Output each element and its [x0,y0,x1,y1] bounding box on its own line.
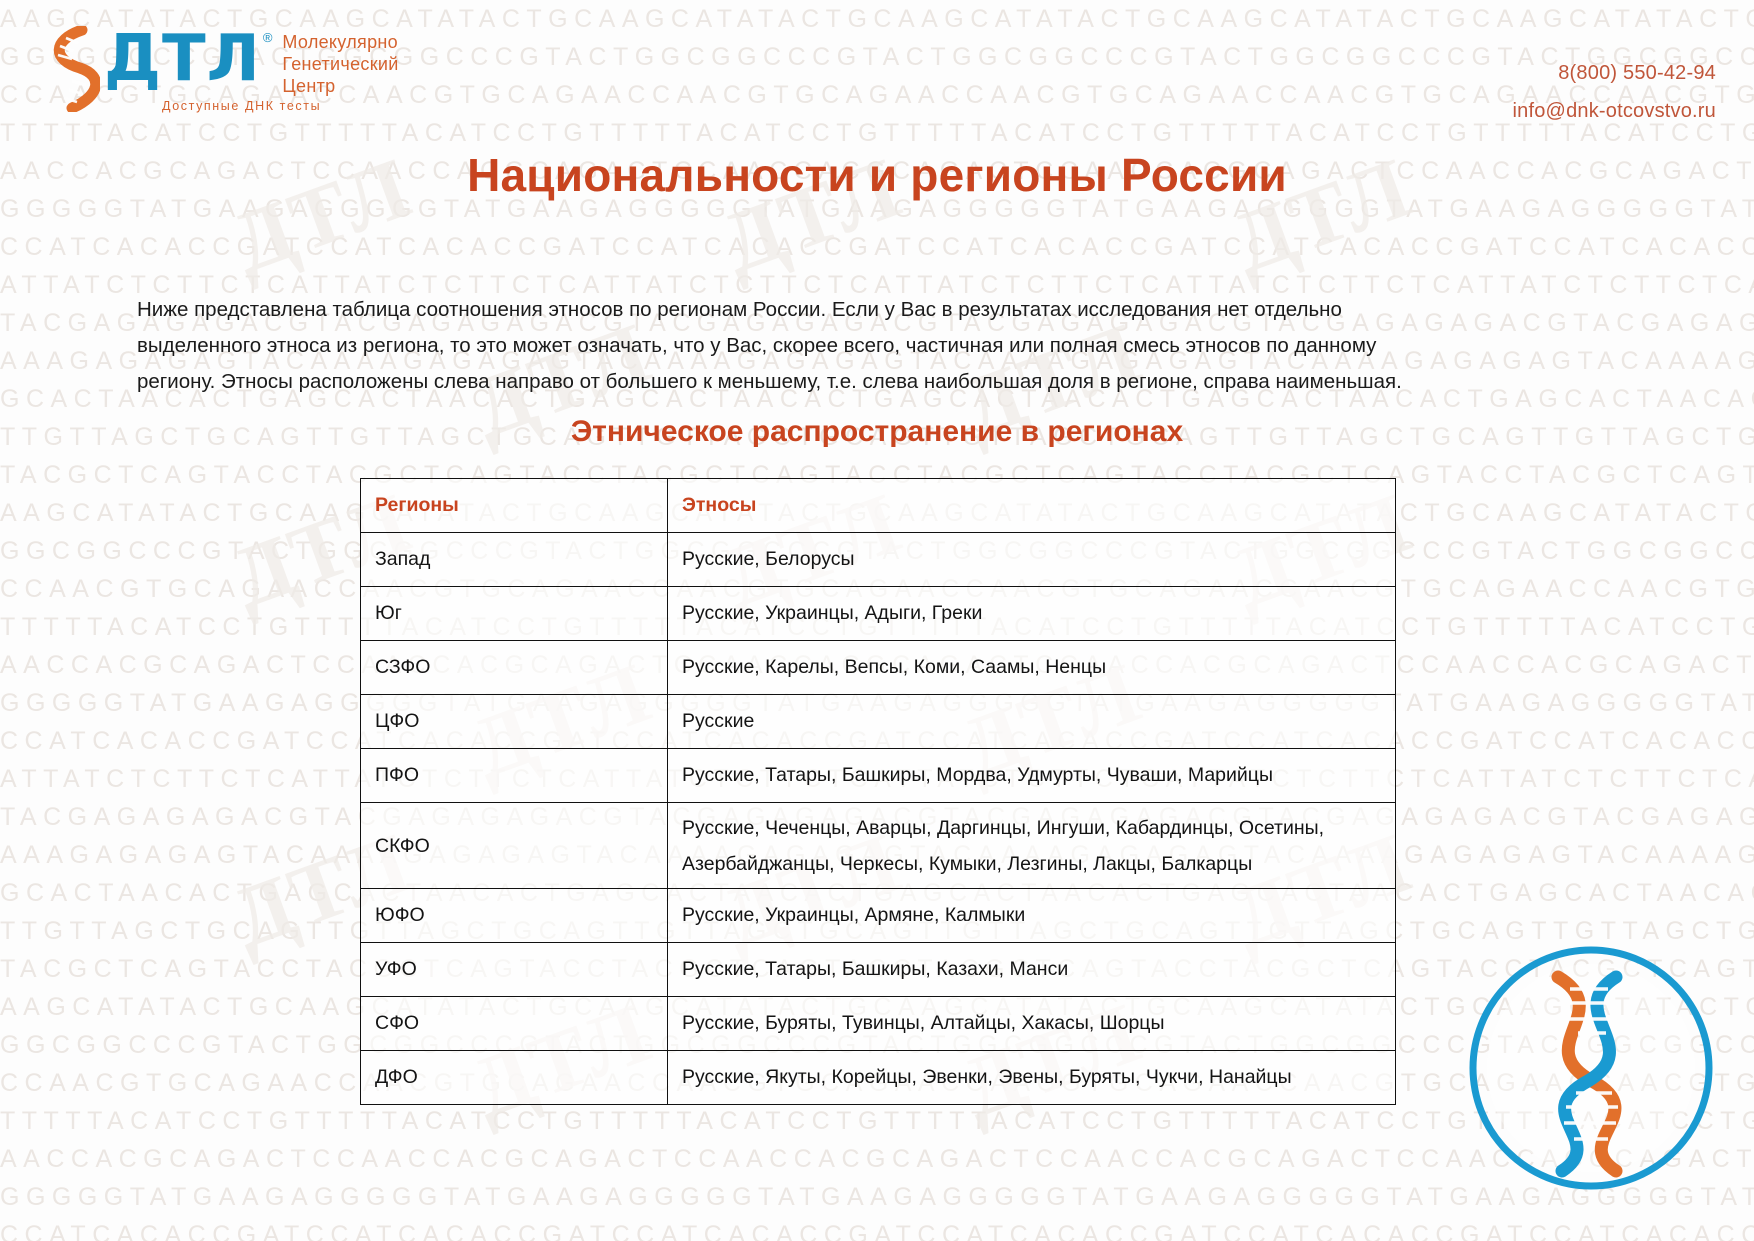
registered-mark: ® [263,30,273,45]
column-header-ethnos: Этносы [668,479,1396,533]
cell-ethnos: Русские [668,695,1396,749]
dna-sequence-row: CCATCACACCGATCCATCACACCGATCCATCACACCGATC… [0,1216,1754,1241]
brand-descriptor: Молекулярно Генетический Центр [282,31,398,97]
brand-name: ДТЛ [104,26,261,92]
dna-circle-badge-icon [1466,943,1716,1193]
column-header-regions: Регионы [361,479,668,533]
brand-tagline: Доступные ДНК тесты [162,99,399,113]
contact-info: 8(800) 550-42-94 info@dnk-otcovstvo.ru [1513,54,1716,130]
cell-ethnos: Русские, Якуты, Корейцы, Эвенки, Эвены, … [668,1051,1396,1105]
table-row: ЮФОРусские, Украинцы, Армяне, Калмыки [361,889,1396,943]
table-row: СЗФОРусские, Карелы, Вепсы, Коми, Саамы,… [361,641,1396,695]
cell-ethnos: Русские, Чеченцы, Аварцы, Даргинцы, Ингу… [668,803,1396,889]
table-body: ЗападРусские, БелорусыЮгРусские, Украинц… [361,533,1396,1105]
email-address[interactable]: info@dnk-otcovstvo.ru [1513,92,1716,130]
cell-ethnos: Русские, Украинцы, Адыги, Греки [668,587,1396,641]
table-row: ПФОРусские, Татары, Башкиры, Мордва, Удм… [361,749,1396,803]
table-row: СФОРусские, Буряты, Тувинцы, Алтайцы, Ха… [361,997,1396,1051]
cell-region: СКФО [361,803,668,889]
brand-descriptor-line-2: Генетический [282,53,398,75]
table-row: ЮгРусские, Украинцы, Адыги, Греки [361,587,1396,641]
cell-region: ПФО [361,749,668,803]
intro-paragraph: Ниже представлена таблица соотношения эт… [137,292,1437,400]
cell-ethnos: Русские, Буряты, Тувинцы, Алтайцы, Хакас… [668,997,1396,1051]
phone-number[interactable]: 8(800) 550-42-94 [1513,54,1716,92]
table-row: ЦФОРусские [361,695,1396,749]
cell-region: СФО [361,997,668,1051]
cell-region: ЮФО [361,889,668,943]
cell-ethnos: Русские, Украинцы, Армяне, Калмыки [668,889,1396,943]
cell-region: Запад [361,533,668,587]
section-title: Этническое распространение в регионах [0,415,1754,449]
ethnic-table-wrapper: Регионы Этносы ЗападРусские, БелорусыЮгР… [360,478,1396,1105]
cell-ethnos: Русские, Карелы, Вепсы, Коми, Саамы, Нен… [668,641,1396,695]
cell-ethnos: Русские, Татары, Башкиры, Мордва, Удмурт… [668,749,1396,803]
table-row: ДФОРусские, Якуты, Корейцы, Эвенки, Эвен… [361,1051,1396,1105]
brand-descriptor-line-1: Молекулярно [282,31,398,53]
cell-ethnos: Русские, Белорусы [668,533,1396,587]
document-page: AAGCATATACTGCAAGCATATACTGCAAGCATATACTGCA… [0,0,1754,1241]
cell-region: ЦФО [361,695,668,749]
table-row: УФОРусские, Татары, Башкиры, Казахи, Ман… [361,943,1396,997]
page-title: Национальности и регионы России [0,148,1754,202]
cell-ethnos: Русские, Татары, Башкиры, Казахи, Манси [668,943,1396,997]
table-row: СКФОРусские, Чеченцы, Аварцы, Даргинцы, … [361,803,1396,889]
cell-region: Юг [361,587,668,641]
brand-logo[interactable]: ДТЛ ® Молекулярно Генетический Центр Дос… [42,26,399,113]
dna-sequence-row: CCATCACACCGATCCATCACACCGATCCATCACACCGATC… [0,228,1754,266]
cell-region: СЗФО [361,641,668,695]
page-header: ДТЛ ® Молекулярно Генетический Центр Дос… [0,0,1754,150]
brand-descriptor-line-3: Центр [282,75,398,97]
table-row: ЗападРусские, Белорусы [361,533,1396,587]
ethnic-distribution-table: Регионы Этносы ЗападРусские, БелорусыЮгР… [360,478,1396,1105]
cell-region: УФО [361,943,668,997]
dna-helix-icon [42,26,100,112]
table-header-row: Регионы Этносы [361,479,1396,533]
cell-region: ДФО [361,1051,668,1105]
